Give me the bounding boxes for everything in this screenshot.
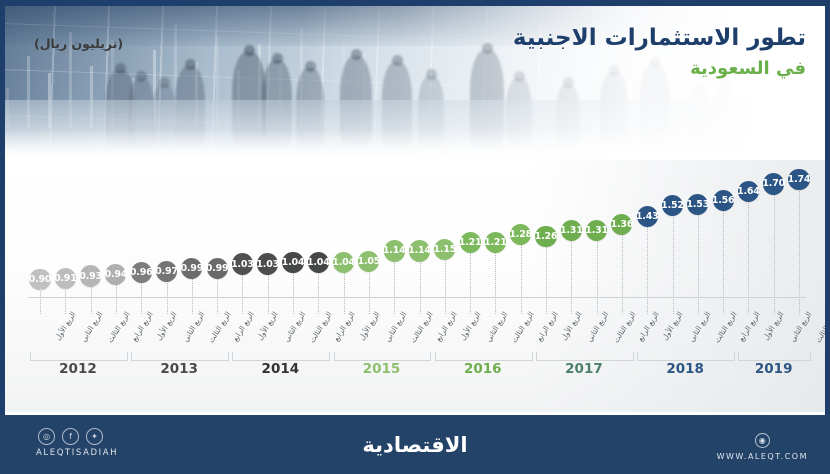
year-bracket: [435, 352, 533, 361]
data-point-bubble: 1.53: [687, 194, 708, 215]
quarter-tick: [597, 288, 598, 297]
year-label: 2017: [536, 361, 632, 377]
quarter-label: الربع الأول: [357, 310, 382, 342]
year-bracket: [232, 352, 330, 361]
quarter-label: الربع الثالث: [712, 310, 738, 344]
year-label: 2018: [637, 361, 733, 377]
quarter-tick: [293, 288, 294, 297]
quarter-tick: [394, 288, 395, 297]
data-point-bubble: 1.15: [434, 239, 455, 260]
frame-left: [0, 0, 5, 415]
axis-baseline: [28, 297, 806, 298]
year-label: 2019: [738, 361, 809, 377]
quarter-tick: [495, 288, 496, 297]
year-bracket: [637, 352, 735, 361]
quarter-label: الربع الثاني: [180, 310, 206, 343]
quarter-tick: [420, 288, 421, 297]
data-point-bubble: 1.31: [561, 220, 582, 241]
publication-logo: الاقتصادية: [0, 415, 830, 474]
data-point-bubble: 1.43: [637, 206, 658, 227]
data-point-bubble: 1.64: [738, 181, 759, 202]
quarter-tick: [470, 288, 471, 297]
year-label: 2014: [232, 361, 328, 377]
quarter-label: الربع الثاني: [585, 310, 611, 343]
data-point-bubble: 1.52: [662, 195, 683, 216]
quarter-label: الربع الثاني: [383, 310, 409, 343]
data-point-bubble: 1.21: [460, 232, 481, 253]
year-label: 2012: [30, 361, 126, 377]
quarter-tick: [318, 288, 319, 297]
data-point-bubble: 1.03: [232, 253, 253, 274]
quarter-tick: [91, 288, 92, 297]
data-point-bubble: 1.70: [763, 173, 784, 194]
data-point-bubble: 1.04: [282, 252, 303, 273]
page-title: تطور الاستثمارات الاجنبية: [513, 24, 806, 52]
quarter-tick: [647, 288, 648, 297]
quarter-label: الربع الرابع: [129, 310, 154, 343]
data-point-bubble: 0.93: [80, 265, 101, 286]
unit-label: (تريليون ريال): [34, 36, 123, 51]
quarter-tick: [116, 288, 117, 297]
quarter-tick: [268, 288, 269, 297]
data-point-bubble: 1.03: [257, 253, 278, 274]
quarter-tick: [65, 288, 66, 297]
frame-top: [0, 0, 830, 6]
quarter-label: الربع الرابع: [231, 310, 256, 343]
quarter-tick: [673, 288, 674, 297]
quarter-tick: [344, 288, 345, 297]
quarter-label: الربع الثالث: [105, 310, 131, 344]
x-axis: الربع الأولالربع الثانيالربع الثالثالربع…: [0, 297, 830, 415]
quarter-label: الربع الثاني: [79, 310, 105, 343]
quarter-tick: [192, 288, 193, 297]
quarter-label: الربع الثالث: [206, 310, 232, 344]
quarter-label: الربع الرابع: [332, 310, 357, 343]
quarter-tick: [698, 288, 699, 297]
quarter-label: الربع الثالث: [510, 310, 536, 344]
data-point-bubble: 1.36: [611, 214, 632, 235]
data-point-bubble: 0.91: [55, 268, 76, 289]
quarter-tick: [723, 288, 724, 297]
data-point-bubble: 0.99: [181, 258, 202, 279]
quarter-tick: [799, 288, 800, 297]
title-block: تطور الاستثمارات الاجنبية في السعودية: [513, 24, 806, 80]
quarter-label: الربع الثالث: [611, 310, 637, 344]
data-point-bubble: 0.90: [29, 269, 50, 290]
site-mark-icon: ◉: [755, 433, 770, 448]
quarter-label: الربع الأول: [660, 310, 685, 342]
year-label: 2015: [334, 361, 430, 377]
website-url[interactable]: WWW.ALEQT.COM: [717, 452, 808, 461]
quarter-label: الربع الثالث: [307, 310, 333, 344]
quarter-label: الربع الأول: [559, 310, 584, 342]
quarter-label: الربع الثاني: [484, 310, 510, 343]
data-point-bubble: 1.04: [308, 252, 329, 273]
quarter-label: الربع الأول: [154, 310, 179, 342]
quarter-tick: [369, 288, 370, 297]
data-point-bubble: 1.05: [358, 251, 379, 272]
footer-bar: ◎f✦ ALEQTISADIAH الاقتصادية ◉ WWW.ALEQT.…: [0, 415, 830, 474]
website-block[interactable]: ◉ WWW.ALEQT.COM: [717, 433, 808, 461]
year-bracket: [536, 352, 634, 361]
data-point-bubble: 1.26: [535, 226, 556, 247]
data-point-bubble: 1.56: [713, 190, 734, 211]
quarter-tick: [445, 288, 446, 297]
quarter-label: الربع الرابع: [635, 310, 660, 343]
data-point-bubble: 1.28: [510, 224, 531, 245]
quarter-label: الربع الأول: [255, 310, 280, 342]
data-point-bubble: 0.94: [105, 264, 126, 285]
year-bracket: [334, 352, 432, 361]
data-point-bubble: 1.21: [485, 232, 506, 253]
quarter-label: الربع الثالث: [409, 310, 435, 344]
data-point-bubble: 1.14: [409, 240, 430, 261]
quarter-tick: [774, 288, 775, 297]
quarter-label: الربع الأول: [53, 310, 78, 342]
data-point-bubble: 0.99: [207, 258, 228, 279]
data-point-bubble: 0.96: [131, 262, 152, 283]
quarter-label: الربع الرابع: [433, 310, 458, 343]
quarter-tick: [571, 288, 572, 297]
quarter-tick: [40, 288, 41, 297]
quarter-label: الربع الثاني: [282, 310, 308, 343]
data-point-bubble: 1.04: [333, 252, 354, 273]
quarter-label: الربع الرابع: [737, 310, 762, 343]
quarter-tick: [141, 288, 142, 297]
infographic-root: تطور الاستثمارات الاجنبية في السعودية 0.…: [0, 0, 830, 474]
quarter-label: الربع الثاني: [686, 310, 712, 343]
year-label: 2016: [435, 361, 531, 377]
data-point-bubble: 1.14: [384, 240, 405, 261]
quarter-label: الربع الأول: [458, 310, 483, 342]
quarter-tick: [546, 288, 547, 297]
quarter-label: الربع الأول: [761, 310, 786, 342]
quarter-tick: [217, 288, 218, 297]
year-label: 2013: [131, 361, 227, 377]
data-point-bubble: 0.97: [156, 261, 177, 282]
quarter-label: الربع الرابع: [534, 310, 559, 343]
hero-bottom-fade: [0, 129, 830, 162]
year-bracket: [738, 352, 811, 361]
quarter-tick: [748, 288, 749, 297]
frame-right: [825, 0, 830, 415]
data-point-bubble: 1.74: [788, 169, 809, 190]
page-subtitle: في السعودية: [513, 57, 806, 80]
quarter-tick: [242, 288, 243, 297]
data-point-bubble: 1.31: [586, 220, 607, 241]
quarter-label: الربع الثاني: [788, 310, 814, 343]
quarter-tick: [167, 288, 168, 297]
quarter-tick: [622, 288, 623, 297]
year-bracket: [30, 352, 128, 361]
year-bracket: [131, 352, 229, 361]
publication-logo-text: الاقتصادية: [362, 433, 467, 457]
quarter-tick: [521, 288, 522, 297]
